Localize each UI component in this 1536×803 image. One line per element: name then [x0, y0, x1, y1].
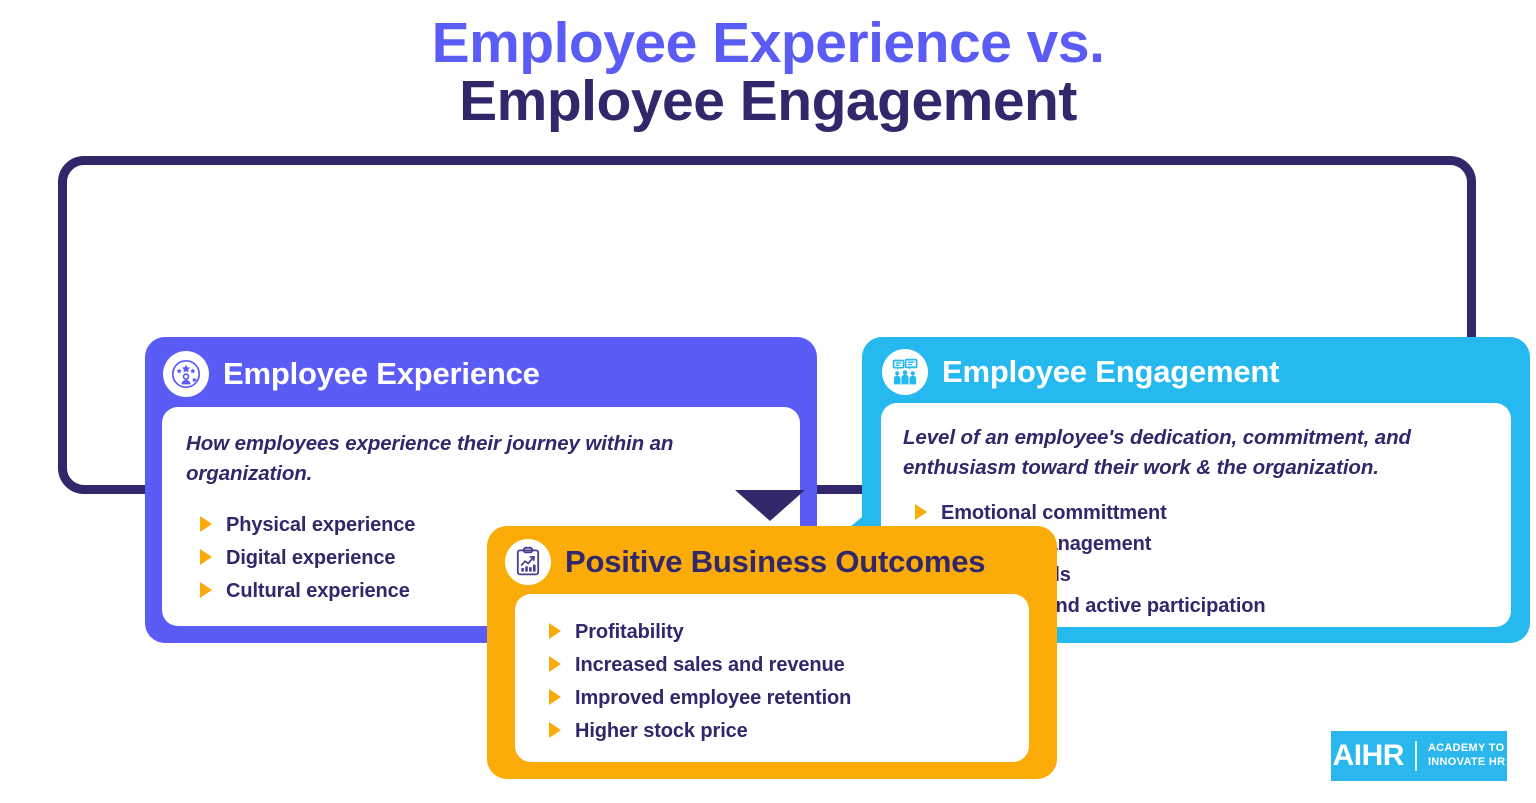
page-title: Employee Experience vs. Employee Engagem… [0, 14, 1536, 130]
list-item-label: Increased sales and revenue [575, 651, 845, 679]
list-item-label: Higher stock price [575, 717, 748, 745]
bullet-arrow-icon [200, 582, 212, 598]
bullet-arrow-icon [200, 516, 212, 532]
card-positive-business-outcomes: Positive Business Outcomes Profitability… [487, 526, 1057, 779]
list-item-label: Emotional committment [941, 499, 1167, 527]
page-title-line-1: Employee Experience vs. [0, 14, 1536, 72]
bullet-arrow-icon [549, 722, 561, 738]
employee-engagement-icon [882, 349, 928, 395]
list-item-label: Cultural experience [226, 577, 410, 605]
list-item-label: Profitability [575, 618, 684, 646]
list-item: Emotional committment [915, 499, 1489, 527]
logo-tagline-line-1: ACADEMY TO [1428, 742, 1505, 756]
bullet-arrow-icon [915, 504, 927, 520]
arrow-connector-down-icon [735, 490, 805, 521]
list-item: Increased sales and revenue [549, 651, 1009, 679]
list-item: Profitability [549, 618, 1009, 646]
card-header-outcomes: Positive Business Outcomes [487, 526, 1057, 585]
card-title-engagement: Employee Engagement [942, 354, 1279, 390]
comparison-frame: Employee Experience How employees experi… [58, 156, 1476, 494]
bullet-arrow-icon [549, 689, 561, 705]
card-header-experience: Employee Experience [145, 337, 817, 397]
list-item-label: Improved employee retention [575, 684, 851, 712]
logo-wordmark: AIHR [1333, 741, 1404, 771]
employee-experience-icon [163, 351, 209, 397]
card-title-outcomes: Positive Business Outcomes [565, 544, 985, 580]
page-title-line-2: Employee Engagement [0, 72, 1536, 130]
card-description-engagement: Level of an employee's dedication, commi… [903, 423, 1489, 483]
list-item: Improved employee retention [549, 684, 1009, 712]
card-title-experience: Employee Experience [223, 356, 540, 392]
logo-tagline: ACADEMY TO INNOVATE HR [1428, 742, 1505, 770]
list-item-label: Digital experience [226, 544, 395, 572]
bullet-arrow-icon [200, 549, 212, 565]
card-description-experience: How employees experience their journey w… [186, 429, 776, 489]
bullet-arrow-icon [549, 623, 561, 639]
bullet-arrow-icon [549, 656, 561, 672]
bullet-list-outcomes: Profitability Increased sales and revenu… [535, 618, 1009, 745]
logo-divider [1415, 741, 1417, 771]
card-panel-outcomes: Profitability Increased sales and revenu… [515, 594, 1029, 762]
list-item-label: Physical experience [226, 511, 415, 539]
aihr-logo: AIHR ACADEMY TO INNOVATE HR [1331, 731, 1507, 781]
clipboard-chart-icon [505, 539, 551, 585]
list-item: Higher stock price [549, 717, 1009, 745]
card-header-engagement: Employee Engagement [862, 337, 1530, 395]
logo-tagline-line-2: INNOVATE HR [1428, 756, 1505, 770]
